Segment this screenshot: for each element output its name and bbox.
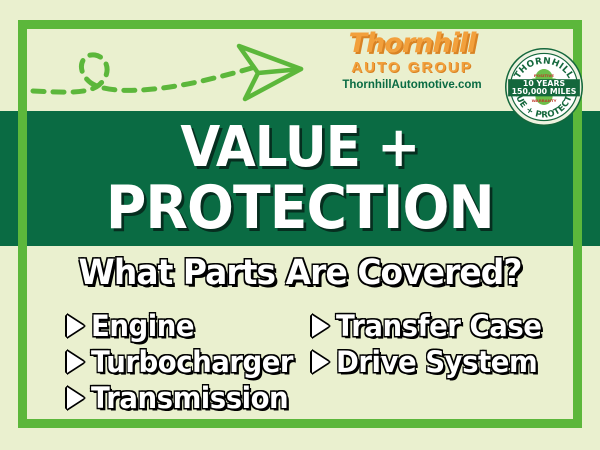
paper-plane-arrow-icon: [239, 46, 301, 99]
headline: VALUE + PROTECTION: [0, 112, 600, 246]
triangle-bullet-icon: [312, 351, 329, 373]
triangle-bullet-icon: [67, 387, 84, 409]
covered-parts-lists: Engine Turbocharger Transmission Transfe…: [27, 308, 573, 420]
covered-part-label: Turbocharger: [91, 346, 293, 378]
triangle-bullet-icon: [67, 315, 84, 337]
list-item: Turbocharger: [67, 344, 304, 380]
list-item: Engine: [67, 308, 304, 344]
badge-miles-text: 150,000 MILES: [512, 87, 577, 96]
badge-small-bottom-text: WARRANTY: [532, 98, 557, 103]
logo-subtitle: AUTO GROUP: [327, 59, 497, 76]
list-item: Transmission: [67, 380, 304, 416]
logo-website-url: ThornhillAutomotive.com: [327, 78, 497, 93]
headline-line-1: VALUE +: [181, 119, 420, 177]
covered-part-label: Transfer Case: [336, 310, 542, 342]
triangle-bullet-icon: [312, 315, 329, 337]
header-strip: Thornhill AUTO GROUP ThornhillAutomotive…: [27, 29, 573, 111]
covered-part-label: Drive System: [336, 346, 537, 378]
covered-part-label: Engine: [91, 310, 194, 342]
subtitle-question: What Parts Are Covered?: [18, 252, 582, 294]
dashed-path-with-loop-icon: [33, 55, 255, 92]
flight-path-graphic: [27, 33, 312, 107]
triangle-bullet-icon: [67, 351, 84, 373]
thornhill-logo: Thornhill AUTO GROUP ThornhillAutomotive…: [327, 29, 497, 111]
logo-wordmark: Thornhill: [327, 29, 497, 59]
badge-small-top-text: POSITIVE: [534, 73, 555, 78]
promo-banner: Thornhill AUTO GROUP ThornhillAutomotive…: [0, 0, 600, 450]
list-item: Drive System: [312, 344, 552, 380]
headline-line-2: PROTECTION: [106, 177, 494, 239]
list-item: Transfer Case: [312, 308, 552, 344]
covered-parts-left-column: Engine Turbocharger Transmission: [67, 308, 304, 416]
covered-parts-right-column: Transfer Case Drive System: [312, 308, 552, 380]
covered-part-label: Transmission: [91, 382, 288, 414]
